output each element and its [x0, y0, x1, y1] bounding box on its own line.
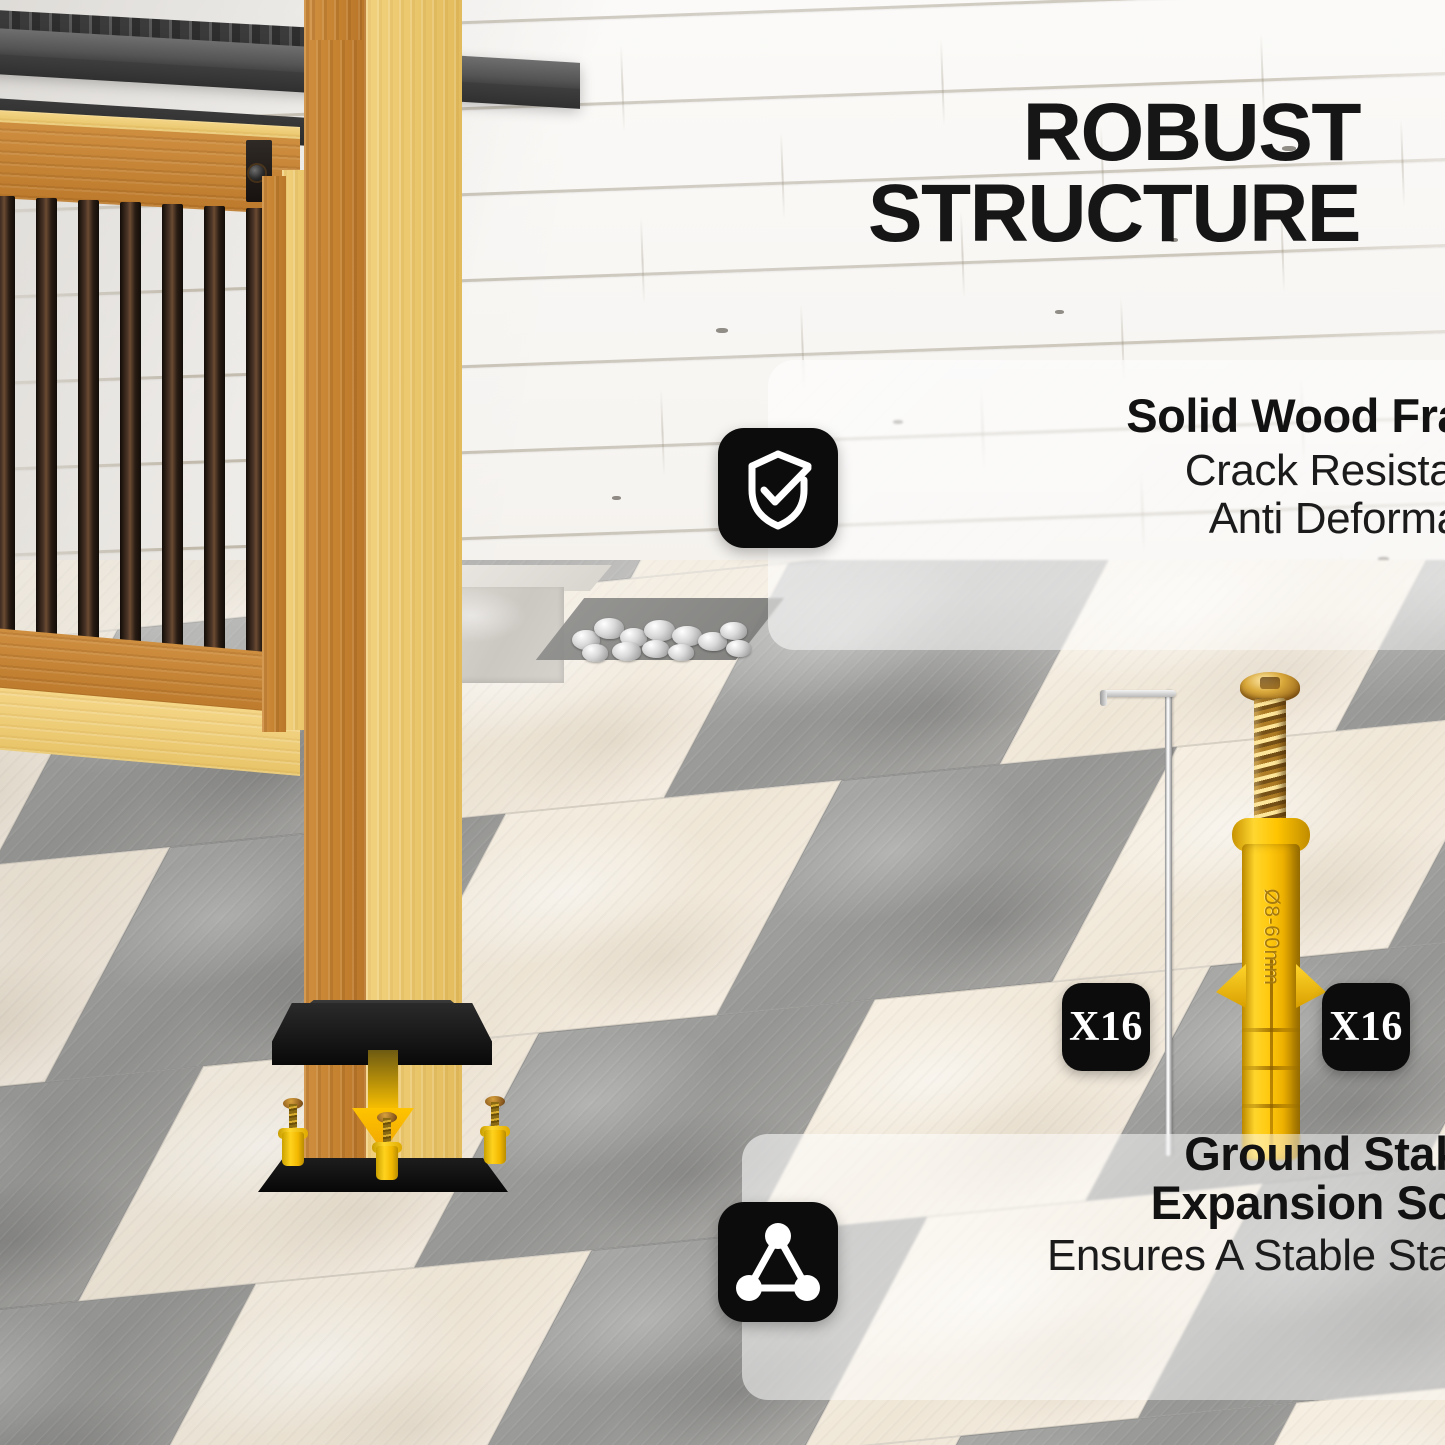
decor-slat — [78, 200, 99, 686]
title-line-1: ROBUST — [460, 92, 1360, 173]
main-post-lit-face — [366, 0, 462, 1176]
feature-subtext: Crack Resistant & Anti Deformation — [858, 447, 1445, 544]
feature-subtext: Ensures A Stable Standing — [858, 1232, 1445, 1280]
decor-slat — [204, 206, 225, 686]
post-cap-block — [310, 0, 362, 40]
decor-slat — [162, 204, 183, 686]
feature-heading: Solid Wood Frame — [858, 392, 1445, 441]
expansion-screw: Ø8-60mm — [1216, 672, 1326, 1162]
feature-heading: Ground Stakes & Expansion Screws — [858, 1130, 1445, 1228]
feature-heading-line-2: Expansion Screws — [858, 1179, 1445, 1228]
feature-text-block: Ground Stakes & Expansion Screws Ensures… — [858, 1130, 1445, 1280]
main-post-shadow-face — [304, 0, 366, 1176]
screw-thread — [1254, 698, 1286, 824]
rear-post-side — [262, 176, 286, 732]
product-feature-image: Ø8-60mm ROBUST STRUCTURE Solid Wood Fram… — [0, 0, 1445, 1445]
feature-heading-line-1: Ground Stakes & — [858, 1130, 1445, 1179]
feature-subtext-line-1: Crack Resistant & — [858, 447, 1445, 495]
page-title: ROBUST STRUCTURE — [460, 92, 1360, 254]
anchor-size-marking: Ø8-60mm — [1206, 904, 1336, 970]
feature-subtext-line-1: Ensures A Stable Standing — [858, 1232, 1445, 1280]
feature-subtext-line-2: Anti Deformation — [858, 495, 1445, 543]
decor-slat — [120, 202, 141, 686]
ground-stake-quantity-badge: X16 — [1062, 983, 1150, 1071]
decor-slat — [36, 198, 57, 686]
feature-text-block: Solid Wood Frame Crack Resistant & Anti … — [858, 392, 1445, 544]
triangle-nodes-icon — [718, 1202, 838, 1322]
ground-stake — [1092, 676, 1188, 1156]
shield-check-icon — [718, 428, 838, 548]
title-line-2: STRUCTURE — [460, 173, 1360, 254]
expansion-screw-quantity-badge: X16 — [1322, 983, 1410, 1071]
decor-slat — [0, 196, 15, 686]
